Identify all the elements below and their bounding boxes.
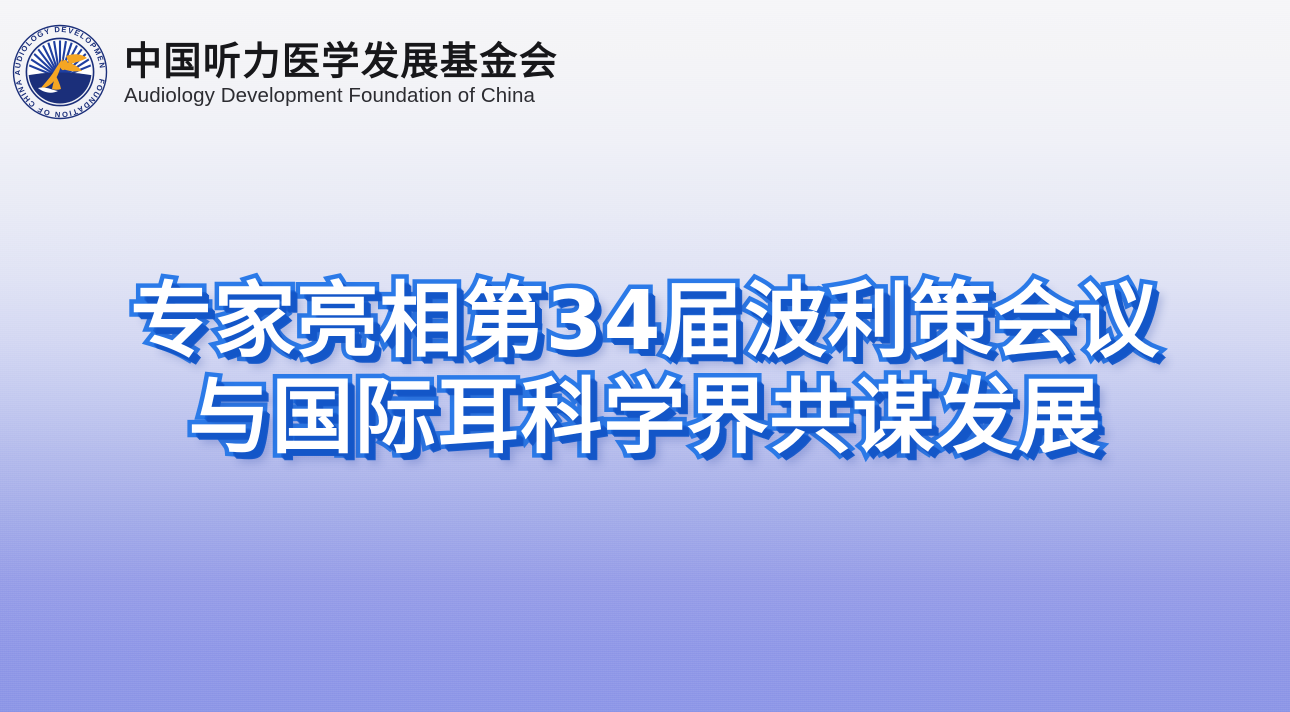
slide-title-line-1: 专家亮相第34届波利策会议	[0, 276, 1290, 368]
foundation-logo-lockup: AUDIOLOGY DEVELOPMENT FOUNDATION OF CHIN…	[8, 20, 559, 124]
foundation-name-en: Audiology Development Foundation of Chin…	[124, 84, 559, 108]
foundation-name-cn: 中国听力医学发展基金会	[124, 40, 559, 81]
slide-title: 专家亮相第34届波利策会议 与国际耳科学界共谋发展	[0, 276, 1290, 464]
slide-canvas: AUDIOLOGY DEVELOPMENT FOUNDATION OF CHIN…	[0, 0, 1290, 712]
slide-title-line-2: 与国际耳科学界共谋发展	[0, 372, 1290, 464]
foundation-emblem-icon: AUDIOLOGY DEVELOPMENT FOUNDATION OF CHIN…	[8, 20, 112, 124]
foundation-logo-text: 中国听力医学发展基金会 Audiology Development Founda…	[124, 37, 559, 108]
